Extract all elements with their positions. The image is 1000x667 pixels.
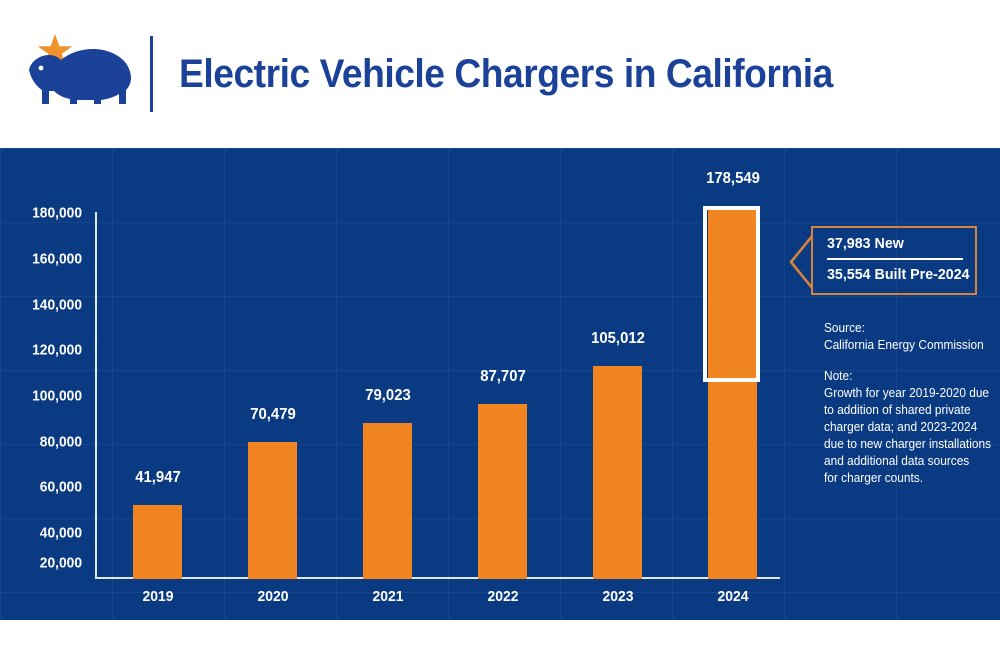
x-tick-2022: 2022 — [487, 588, 518, 605]
bar-2023 — [593, 366, 642, 579]
side-notes: Source: California Energy Commission Not… — [824, 320, 976, 501]
bar-value-label: 41,947 — [135, 469, 181, 487]
callout-prebuilt-count: 35,554 Built Pre-2024 — [827, 266, 956, 283]
california-bear-icon — [19, 28, 139, 120]
bar-2020 — [248, 442, 297, 579]
note-line: to addition of shared private — [824, 402, 976, 419]
y-tick-label: 140,000 — [7, 297, 82, 314]
bar-value-label: 105,012 — [591, 330, 645, 348]
note-line: for charger counts. — [824, 470, 976, 487]
x-tick-2021: 2021 — [372, 588, 403, 605]
x-tick-2024: 2024 — [717, 588, 748, 605]
page-header: Electric Vehicle Chargers in California — [0, 0, 1000, 148]
note-line: Growth for year 2019-2020 due — [824, 385, 976, 402]
source-value: California Energy Commission — [824, 337, 976, 354]
callout-new-count: 37,983 New — [827, 235, 956, 252]
note-line: and additional data sources — [824, 453, 976, 470]
bar-value-label: 178,549 — [706, 170, 760, 188]
callout-arrow-icon — [789, 234, 813, 290]
y-tick-label: 120,000 — [7, 342, 82, 359]
y-tick-label: 80,000 — [7, 434, 82, 451]
source-block: Source: California Energy Commission — [824, 320, 976, 354]
chart-panel: 180,000 160,000 140,000 120,000 100,000 … — [0, 148, 1000, 620]
source-heading: Source: — [824, 320, 976, 337]
note-heading: Note: — [824, 368, 976, 385]
bar-2019 — [133, 505, 182, 579]
y-tick-label: 160,000 — [7, 251, 82, 268]
x-axis-line — [95, 577, 780, 579]
highlight-new-chargers-2024 — [703, 206, 760, 382]
bear-eye — [39, 66, 44, 71]
note-line: due to new charger installations — [824, 436, 976, 453]
note-line: charger data; and 2023-2024 — [824, 419, 976, 436]
bar-value-label: 70,479 — [250, 406, 296, 424]
bar-value-label: 87,707 — [480, 368, 526, 386]
x-tick-2023: 2023 — [602, 588, 633, 605]
x-tick-2020: 2020 — [257, 588, 288, 605]
note-block: Note: Growth for year 2019-2020 due to a… — [824, 368, 976, 487]
bar-2022 — [478, 404, 527, 579]
page-title: Electric Vehicle Chargers in California — [179, 52, 833, 97]
california-bear-logo — [14, 24, 144, 124]
callout-box: 37,983 New 35,554 Built Pre-2024 — [811, 226, 977, 295]
y-tick-label: 40,000 — [7, 525, 82, 542]
y-axis-line — [95, 212, 97, 579]
y-tick-label: 180,000 — [7, 205, 82, 222]
bar-value-label: 79,023 — [365, 387, 411, 405]
y-tick-label: 60,000 — [7, 479, 82, 496]
bar-2021 — [363, 423, 412, 579]
x-tick-2019: 2019 — [142, 588, 173, 605]
header-divider — [150, 36, 153, 112]
callout-rule — [827, 258, 963, 260]
y-tick-label: 20,000 — [7, 555, 82, 572]
y-tick-label: 100,000 — [7, 388, 82, 405]
